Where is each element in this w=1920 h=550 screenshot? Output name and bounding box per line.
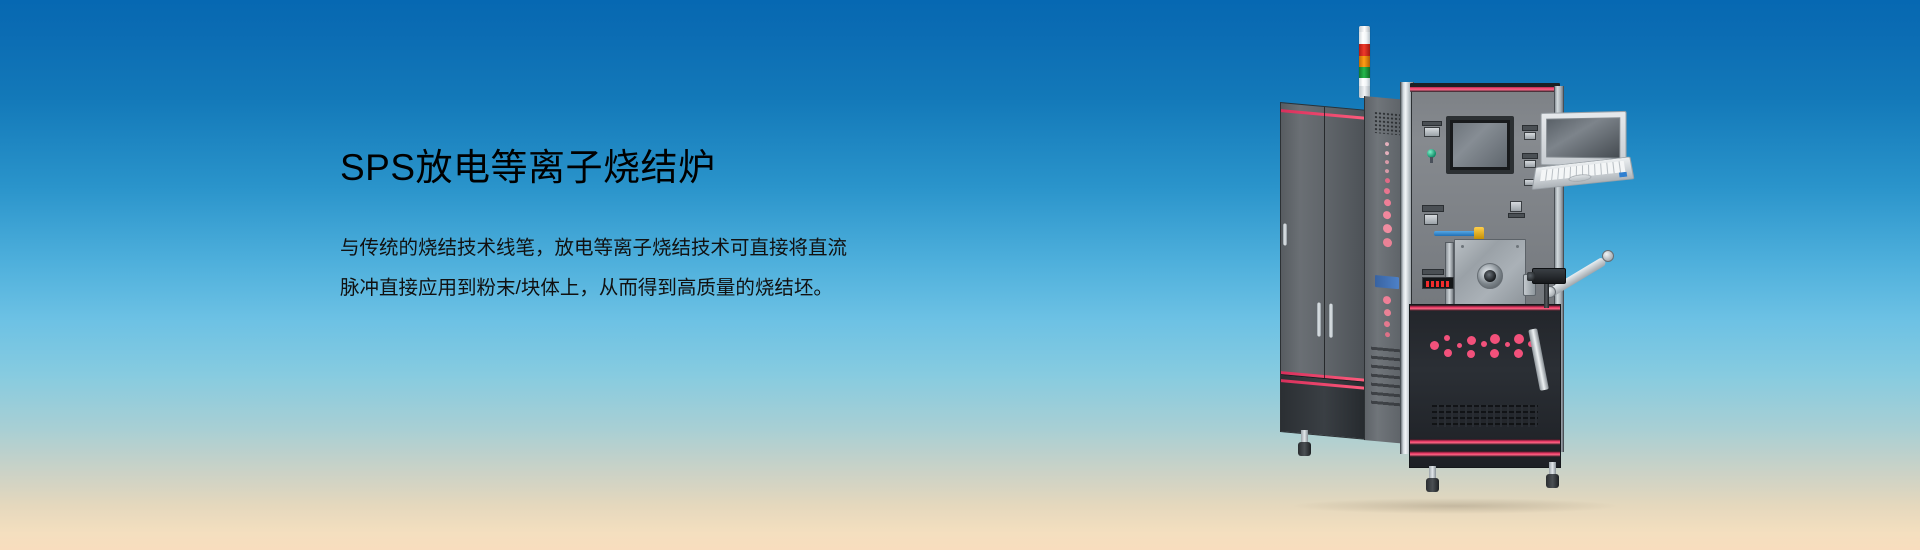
caster-wheel-front-right bbox=[1546, 462, 1559, 488]
camera-lens-icon bbox=[1527, 272, 1535, 281]
blue-label-plate bbox=[1375, 275, 1399, 289]
page-title: SPS放电等离子烧结炉 bbox=[340, 146, 1100, 190]
stack-light-green bbox=[1359, 67, 1370, 78]
plinth-accent-stripe bbox=[1281, 379, 1367, 390]
digital-readout-display bbox=[1422, 277, 1454, 289]
indicator-led-column-lower bbox=[1377, 295, 1397, 338]
lower-panel-accent-foot bbox=[1410, 451, 1560, 457]
port-label bbox=[1508, 213, 1525, 218]
exhaust-louvers bbox=[1432, 405, 1538, 427]
panel-label-left-1 bbox=[1422, 205, 1444, 212]
stack-light-red bbox=[1359, 44, 1370, 56]
cabinet-handle-left bbox=[1317, 302, 1321, 336]
selector-switch-5[interactable] bbox=[1424, 214, 1438, 225]
ventilation-perforation bbox=[1374, 111, 1400, 135]
usb-port-panel[interactable] bbox=[1510, 201, 1522, 212]
caster-wheel-rear-left bbox=[1298, 430, 1311, 456]
banner-description: 与传统的烧结技术线笔，放电等离子烧结技术可直接将直流 脉冲直接应用到粉末/块体上… bbox=[340, 190, 1100, 308]
observation-camera-icon bbox=[1532, 268, 1566, 284]
cabinet-latch bbox=[1283, 223, 1287, 245]
hmi-touchscreen[interactable] bbox=[1446, 116, 1514, 174]
chamber-view-port bbox=[1477, 263, 1503, 289]
control-laptop[interactable] bbox=[1534, 112, 1630, 196]
port-dot-array bbox=[1430, 331, 1540, 367]
lower-vent-slots bbox=[1371, 347, 1403, 410]
panel-top-accent-rail bbox=[1410, 83, 1560, 92]
machine-ground-shadow bbox=[1290, 498, 1620, 514]
description-line-2: 脉冲直接应用到粉末/块体上，从而得到高质量的烧结坯。 bbox=[340, 268, 1100, 308]
arm-joint-upper bbox=[1602, 250, 1614, 262]
stack-light-cap bbox=[1359, 26, 1370, 32]
articulated-monitor-arm bbox=[1526, 262, 1634, 390]
indicator-lamp-green bbox=[1427, 149, 1436, 163]
switch-label-1 bbox=[1422, 121, 1442, 126]
rear-cabinet bbox=[1280, 102, 1368, 440]
laptop-screen[interactable] bbox=[1546, 117, 1620, 158]
cabinet-handle-right bbox=[1329, 303, 1333, 337]
stack-light-amber bbox=[1359, 56, 1370, 67]
arm-lower-post bbox=[1528, 328, 1549, 391]
product-image-sps-furnace bbox=[1280, 24, 1640, 514]
indicator-led-column-upper bbox=[1377, 141, 1397, 248]
laptop-badge-icon bbox=[1619, 172, 1627, 178]
stack-light-icon bbox=[1359, 26, 1370, 98]
readout-label bbox=[1422, 269, 1444, 275]
caster-wheel-front-left bbox=[1426, 466, 1439, 492]
description-line-1: 与传统的烧结技术线笔，放电等离子烧结技术可直接将直流 bbox=[340, 228, 1100, 268]
camera-stand bbox=[1544, 282, 1549, 308]
gas-inlet-pipe-upper bbox=[1434, 231, 1478, 236]
hero-banner: SPS放电等离子烧结炉 与传统的烧结技术线笔，放电等离子烧结技术可直接将直流 脉… bbox=[0, 0, 1920, 550]
selector-switch-1[interactable] bbox=[1424, 127, 1440, 137]
cabinet-base-plinth bbox=[1281, 374, 1367, 439]
lower-panel-accent-bottom bbox=[1410, 439, 1560, 445]
banner-text-block: SPS放电等离子烧结炉 与传统的烧结技术线笔，放电等离子烧结技术可直接将直流 脉… bbox=[340, 146, 1100, 308]
